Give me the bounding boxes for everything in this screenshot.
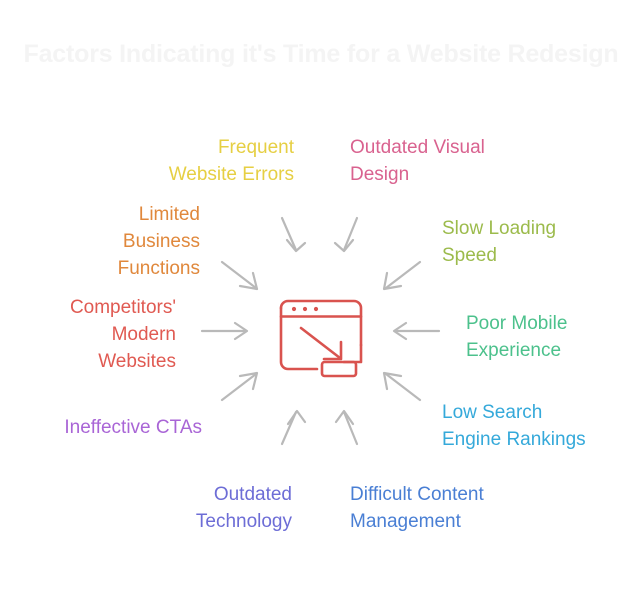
factor-label-difficult-content-management: Difficult Content Management bbox=[350, 481, 546, 535]
infographic-canvas: Factors Indicating it's Time for a Websi… bbox=[0, 0, 642, 589]
factor-label-ineffective-ctas: Ineffective CTAs bbox=[18, 414, 202, 441]
factor-label-slow-loading-speed: Slow Loading Speed bbox=[442, 215, 618, 269]
factor-label-outdated-visual-design: Outdated Visual Design bbox=[350, 134, 560, 188]
arrow-top-right-down bbox=[335, 218, 357, 251]
factor-label-poor-mobile-experience: Poor Mobile Experience bbox=[466, 310, 626, 364]
factor-label-limited-business-functions: Limited Business Functions bbox=[78, 201, 200, 282]
factor-label-low-search-engine-rankings: Low Search Engine Rankings bbox=[442, 399, 638, 453]
browser-window-declining-arrow-icon bbox=[268, 283, 374, 389]
factor-label-outdated-technology: Outdated Technology bbox=[160, 481, 292, 535]
arrow-upper-right-diag bbox=[384, 262, 420, 289]
arrow-lower-left-diag bbox=[222, 373, 257, 400]
arrow-bottom-left-up bbox=[282, 411, 305, 444]
factor-label-frequent-errors: Frequent Website Errors bbox=[128, 134, 294, 188]
arrow-upper-left-diag bbox=[222, 262, 257, 289]
factor-label-competitors-modern-websites: Competitors' Modern Websites bbox=[24, 294, 176, 375]
arrow-right-horizontal bbox=[394, 323, 439, 339]
arrow-top-left-down bbox=[282, 218, 305, 251]
arrow-left-horizontal bbox=[202, 323, 247, 339]
arrow-bottom-right-up bbox=[336, 411, 357, 444]
arrow-lower-right-diag bbox=[384, 373, 420, 400]
